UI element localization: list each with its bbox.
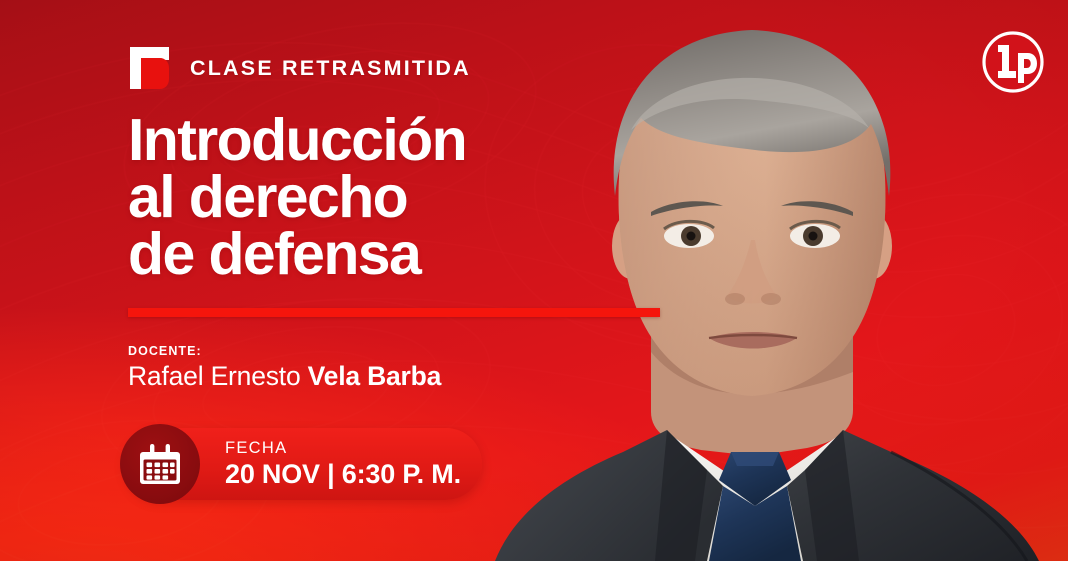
date-text: FECHA 20 NOV | 6:30 P. M. (225, 440, 461, 489)
eyebrow-label: CLASE RETRASMITIDA (190, 56, 471, 81)
eyebrow-row: CLASE RETRASMITIDA (128, 44, 700, 92)
title-line-2: al derecho (128, 169, 700, 226)
lp-bracket-mark-icon (128, 45, 171, 91)
instructor-block: DOCENTE: Rafael Ernesto Vela Barba (128, 344, 700, 392)
lp-circle-logo-icon (982, 31, 1044, 93)
title-line-3: de defensa (128, 226, 700, 283)
date-label: FECHA (225, 440, 461, 457)
instructor-first-names: Rafael Ernesto (128, 361, 308, 391)
date-value: 20 NOV | 6:30 P. M. (225, 461, 461, 488)
title-divider (128, 308, 660, 317)
calendar-icon (120, 424, 200, 504)
instructor-name: Rafael Ernesto Vela Barba (128, 361, 700, 392)
promo-banner: CLASE RETRASMITIDA Introducción al derec… (0, 0, 1068, 561)
instructor-label: DOCENTE: (128, 344, 700, 358)
instructor-last-names: Vela Barba (308, 361, 442, 391)
title-line-1: Introducción (128, 112, 700, 169)
date-pill: FECHA 20 NOV | 6:30 P. M. (124, 428, 482, 500)
page-title: Introducción al derecho de defensa (128, 112, 700, 284)
